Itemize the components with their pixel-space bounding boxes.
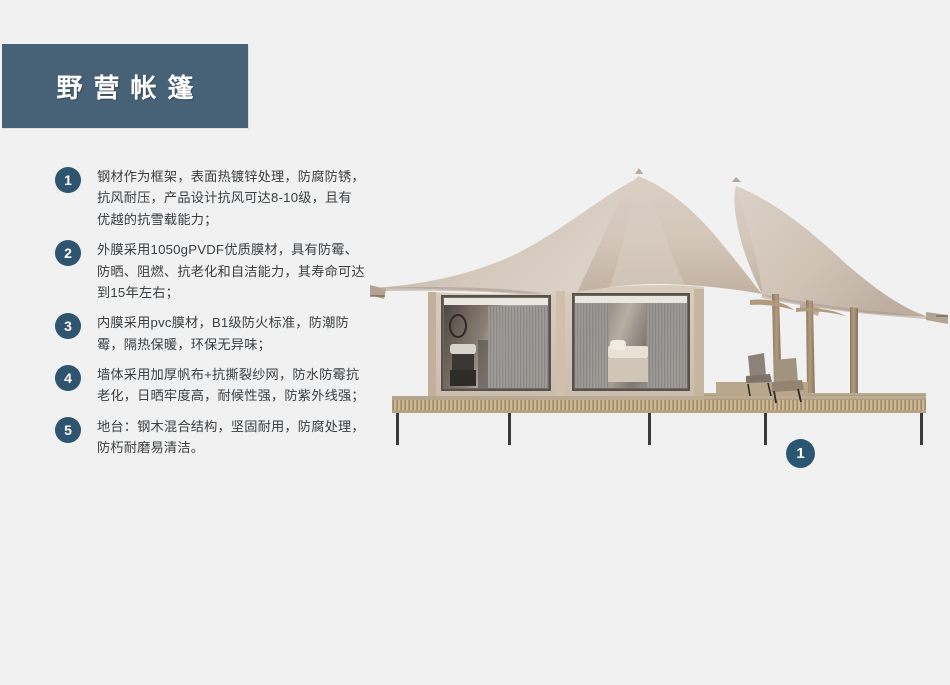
window-bedroom [573,294,689,390]
page-title-banner: 野营帐篷 [2,44,248,128]
guy-strap-right [926,312,948,324]
list-item: 3 内膜采用pvc膜材，B1级防火标准，防潮防霉，隔热保暖，环保无异味； [55,312,365,355]
deck-leg [920,413,923,445]
canopy-peak-left [635,168,643,174]
feature-text-5: 地台：钢木混合结构，坚固耐用，防腐处理，防朽耐磨易清洁。 [97,416,365,459]
list-item: 1 钢材作为框架，表面热镀锌处理，防腐防锈，抗风耐压，产品设计抗风可达8-10级… [55,166,365,230]
window-bathroom [442,296,550,390]
list-item: 4 墙体采用加厚帆布+抗撕裂纱网，防水防霉抗老化，日晒牢度高，耐候性强，防紫外线… [55,364,365,407]
wall-corner-post-left [428,292,436,396]
bullet-number-1: 1 [55,167,81,193]
feature-text-1: 钢材作为框架，表面热镀锌处理，防腐防锈，抗风耐压，产品设计抗风可达8-10级，且… [97,166,365,230]
feature-text-4: 墙体采用加厚帆布+抗撕裂纱网，防水防霉抗老化，日晒牢度高，耐候性强，防紫外线强； [97,364,365,407]
canopy-peak-right [732,177,741,182]
bullet-number-3: 3 [55,313,81,339]
bullet-number-2: 2 [55,240,81,266]
wall-centre-post [556,291,565,396]
feature-text-3: 内膜采用pvc膜材，B1级防火标准，防潮防霉，隔热保暖，环保无异味； [97,312,365,355]
guy-strap-left [370,285,386,299]
tent-illustration: 野 营 帐 篷 CAMPING TENT 1 2 3 4 5 [370,160,950,445]
bullet-number-4: 4 [55,365,81,391]
deck-edge-boards [392,400,926,410]
deck-leg [508,413,511,445]
deck-leg [396,413,399,445]
feature-text-2: 外膜采用1050gPVDF优质膜材，具有防霉、防晒、阻燃、抗老化和自洁能力，其寿… [97,239,365,303]
tent-svg [370,160,950,445]
bullet-number-5: 5 [55,417,81,443]
deck-leg [764,413,767,445]
wall-corner-post-right [694,289,704,396]
feature-list: 1 钢材作为框架，表面热镀锌处理，防腐防锈，抗风耐压，产品设计抗风可达8-10级… [55,166,365,468]
porch-post-outer [850,307,858,394]
list-item: 2 外膜采用1050gPVDF优质膜材，具有防霉、防晒、阻燃、抗老化和自洁能力，… [55,239,365,303]
deck-leg [648,413,651,445]
canopy-right-wing [736,186,926,319]
marker-1[interactable]: 1 [786,439,815,468]
watermark-subtext: CAMPING TENT [946,452,950,458]
list-item: 5 地台：钢木混合结构，坚固耐用，防腐处理，防朽耐磨易清洁。 [55,416,365,459]
page-title: 野营帐篷 [45,68,204,105]
